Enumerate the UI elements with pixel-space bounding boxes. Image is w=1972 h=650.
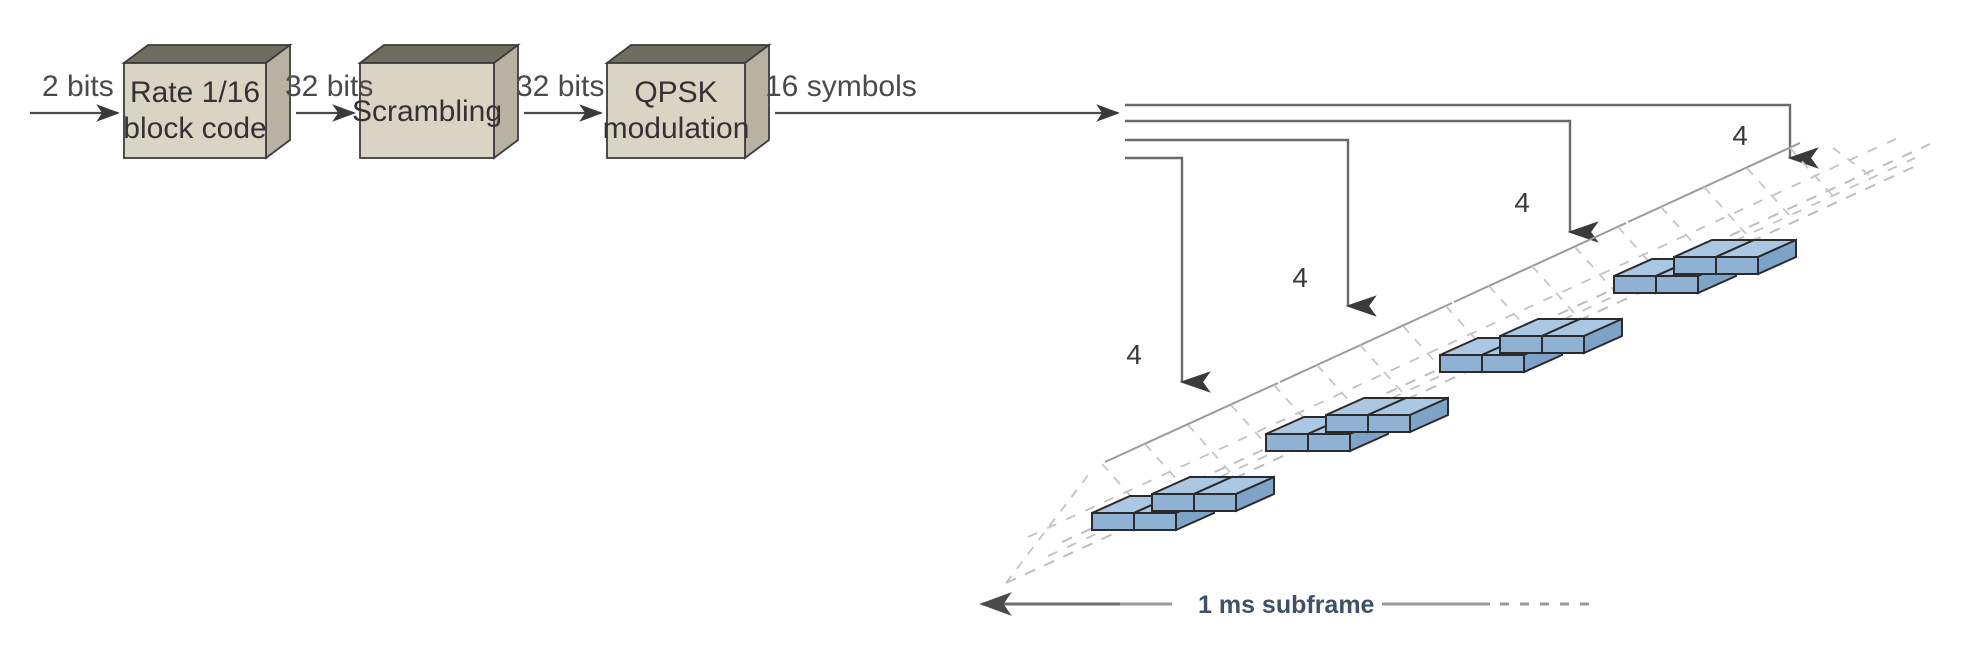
box-top-face (124, 45, 290, 63)
branch-path (1125, 140, 1348, 306)
connector-label: 32 bits (285, 70, 373, 103)
branch-count-label: 4 (1126, 339, 1142, 370)
connector-label: 32 bits (516, 70, 604, 103)
branch-route-1: 4 (1125, 158, 1182, 382)
branch-count-label: 4 (1514, 187, 1530, 218)
branch-count-label: 4 (1292, 262, 1308, 293)
diagram-canvas: Rate 1/16 block code Scrambling QPSK mod… (0, 0, 1972, 650)
slot-group-2[interactable] (1266, 398, 1448, 451)
process-box-qpsk-modulation[interactable]: QPSK modulation (603, 45, 769, 158)
branch-path (1125, 105, 1790, 158)
box-top-face (607, 45, 769, 63)
box-label-line1: Rate 1/16 (130, 76, 260, 109)
connector-input-2-bits: 2 bits (30, 70, 118, 113)
grid-edge-solid (1105, 383, 1278, 462)
box-label-line2: block code (123, 112, 266, 145)
subframe-timeline: 1 ms subframe (982, 591, 1592, 619)
grid-edge-solid (1454, 223, 1626, 302)
connector-label: 16 symbols (765, 70, 917, 103)
branch-count-label: 4 (1732, 120, 1748, 151)
connector-scrambling-to-qpsk: 32 bits (516, 70, 604, 113)
box-label-line1: Scrambling (352, 95, 502, 128)
grid-edge-solid (1280, 303, 1452, 382)
grid-line-time (1028, 137, 1900, 537)
box-label-line2: modulation (603, 112, 750, 145)
slot-group-4[interactable] (1614, 240, 1796, 293)
branch-route-2: 4 (1125, 140, 1348, 306)
slot-group-3[interactable] (1440, 319, 1622, 372)
transmission-chain-diagram: Rate 1/16 block code Scrambling QPSK mod… (0, 0, 1972, 650)
subframe-label: 1 ms subframe (1198, 591, 1375, 619)
process-box-scrambling[interactable]: Scrambling (352, 45, 518, 158)
grid-cross-lines (1102, 148, 1876, 512)
input-label: 2 bits (42, 70, 114, 103)
box-label-line1: QPSK (634, 76, 717, 109)
box-top-face (360, 45, 518, 63)
slot-group-1[interactable] (1092, 477, 1274, 530)
connector-qpsk-to-branches: 16 symbols (765, 70, 1118, 113)
grid-edge-solid (1628, 143, 1800, 222)
process-box-rate-block-code[interactable]: Rate 1/16 block code (123, 45, 290, 158)
branch-route-4: 4 (1125, 105, 1790, 158)
